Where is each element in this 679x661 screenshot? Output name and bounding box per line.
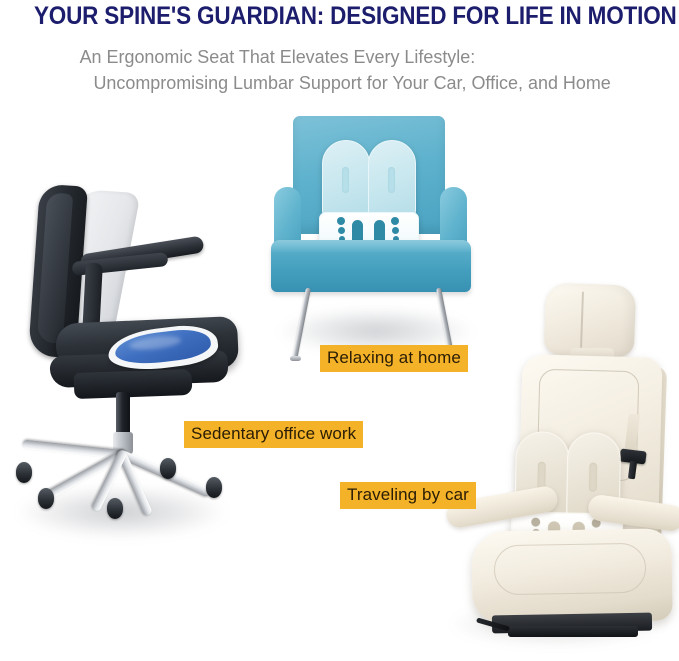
caster xyxy=(16,462,32,483)
lumbar-wing-dimple xyxy=(388,167,395,193)
lumbar-dot xyxy=(392,227,399,234)
scene-car-seat xyxy=(430,282,679,661)
label-sedentary-office-work: Sedentary office work xyxy=(184,421,363,448)
page-title: YOUR SPINE'S GUARDIAN: DESIGNED FOR LIFE… xyxy=(34,2,645,30)
caster xyxy=(206,477,222,498)
caster xyxy=(38,488,54,509)
lumbar-wing-dimple xyxy=(342,167,349,193)
lumbar-dot xyxy=(338,227,345,234)
caster xyxy=(107,498,123,519)
lumbar-dot xyxy=(337,217,345,225)
sofa-leg-foot xyxy=(290,356,301,361)
subtitle-line-1: An Ergonomic Seat That Elevates Every Li… xyxy=(10,44,669,70)
car-seat-rail-lower xyxy=(508,626,638,637)
subtitle-block: An Ergonomic Seat That Elevates Every Li… xyxy=(10,44,669,96)
office-chair-five-star-base xyxy=(8,440,248,510)
lumbar-dot xyxy=(391,217,399,225)
car-seat-headrest xyxy=(544,282,636,357)
product-banner: YOUR SPINE'S GUARDIAN: DESIGNED FOR LIFE… xyxy=(0,0,679,661)
car-seat-cushion-stitching xyxy=(494,543,647,596)
scene-office-chair xyxy=(8,185,248,555)
caster xyxy=(160,458,176,479)
label-traveling-by-car: Traveling by car xyxy=(340,482,476,509)
subtitle-line-2: Uncompromising Lumbar Support for Your C… xyxy=(10,70,669,96)
lumbar-wing-dimple xyxy=(589,463,597,492)
lumbar-dot xyxy=(531,518,540,527)
office-chair-tilt-mechanism xyxy=(74,369,193,399)
label-relaxing-at-home: Relaxing at home xyxy=(320,345,468,372)
